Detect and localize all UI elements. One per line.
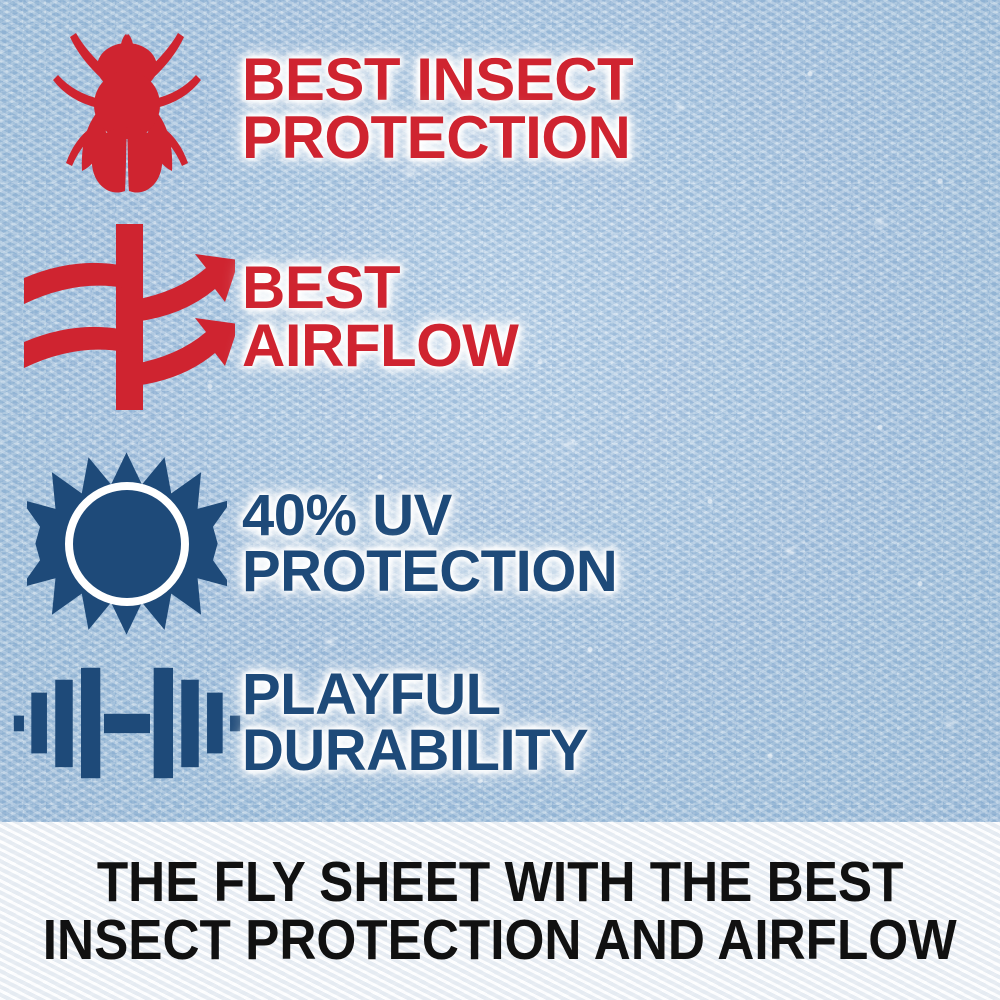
tagline-line-2: INSECT PROTECTION AND AIRFLOW — [43, 911, 957, 969]
feature-list: BEST INSECT PROTECTION — [0, 0, 1000, 822]
bottom-tagline-banner: THE FLY SHEET WITH THE BEST INSECT PROTE… — [0, 822, 1000, 1000]
airflow-arrows-icon — [20, 222, 235, 412]
dumbbell-icon — [12, 658, 242, 788]
feature-icon-slot — [12, 19, 242, 199]
product-feature-poster: BEST INSECT PROTECTION — [0, 0, 1000, 1000]
feature-icon-slot — [12, 222, 242, 412]
feature-label-insect-protection: BEST INSECT PROTECTION — [242, 51, 872, 166]
feature-row-airflow: BEST AIRFLOW — [12, 222, 872, 412]
feature-row-durability: PLAYFUL DURABILITY — [12, 648, 872, 798]
fly-icon — [42, 19, 212, 199]
feature-label-durability: PLAYFUL DURABILITY — [242, 667, 872, 778]
feature-row-uv-protection: 40% UV PROTECTION — [12, 444, 872, 644]
tagline-line-1: THE FLY SHEET WITH THE BEST — [97, 853, 904, 911]
feature-label-airflow: BEST AIRFLOW — [242, 259, 872, 374]
feature-label-uv-protection: 40% UV PROTECTION — [242, 488, 872, 599]
sun-uv-icon — [27, 444, 227, 644]
feature-icon-slot — [12, 444, 242, 644]
feature-row-insect-protection: BEST INSECT PROTECTION — [12, 18, 872, 200]
feature-icon-slot — [12, 658, 242, 788]
